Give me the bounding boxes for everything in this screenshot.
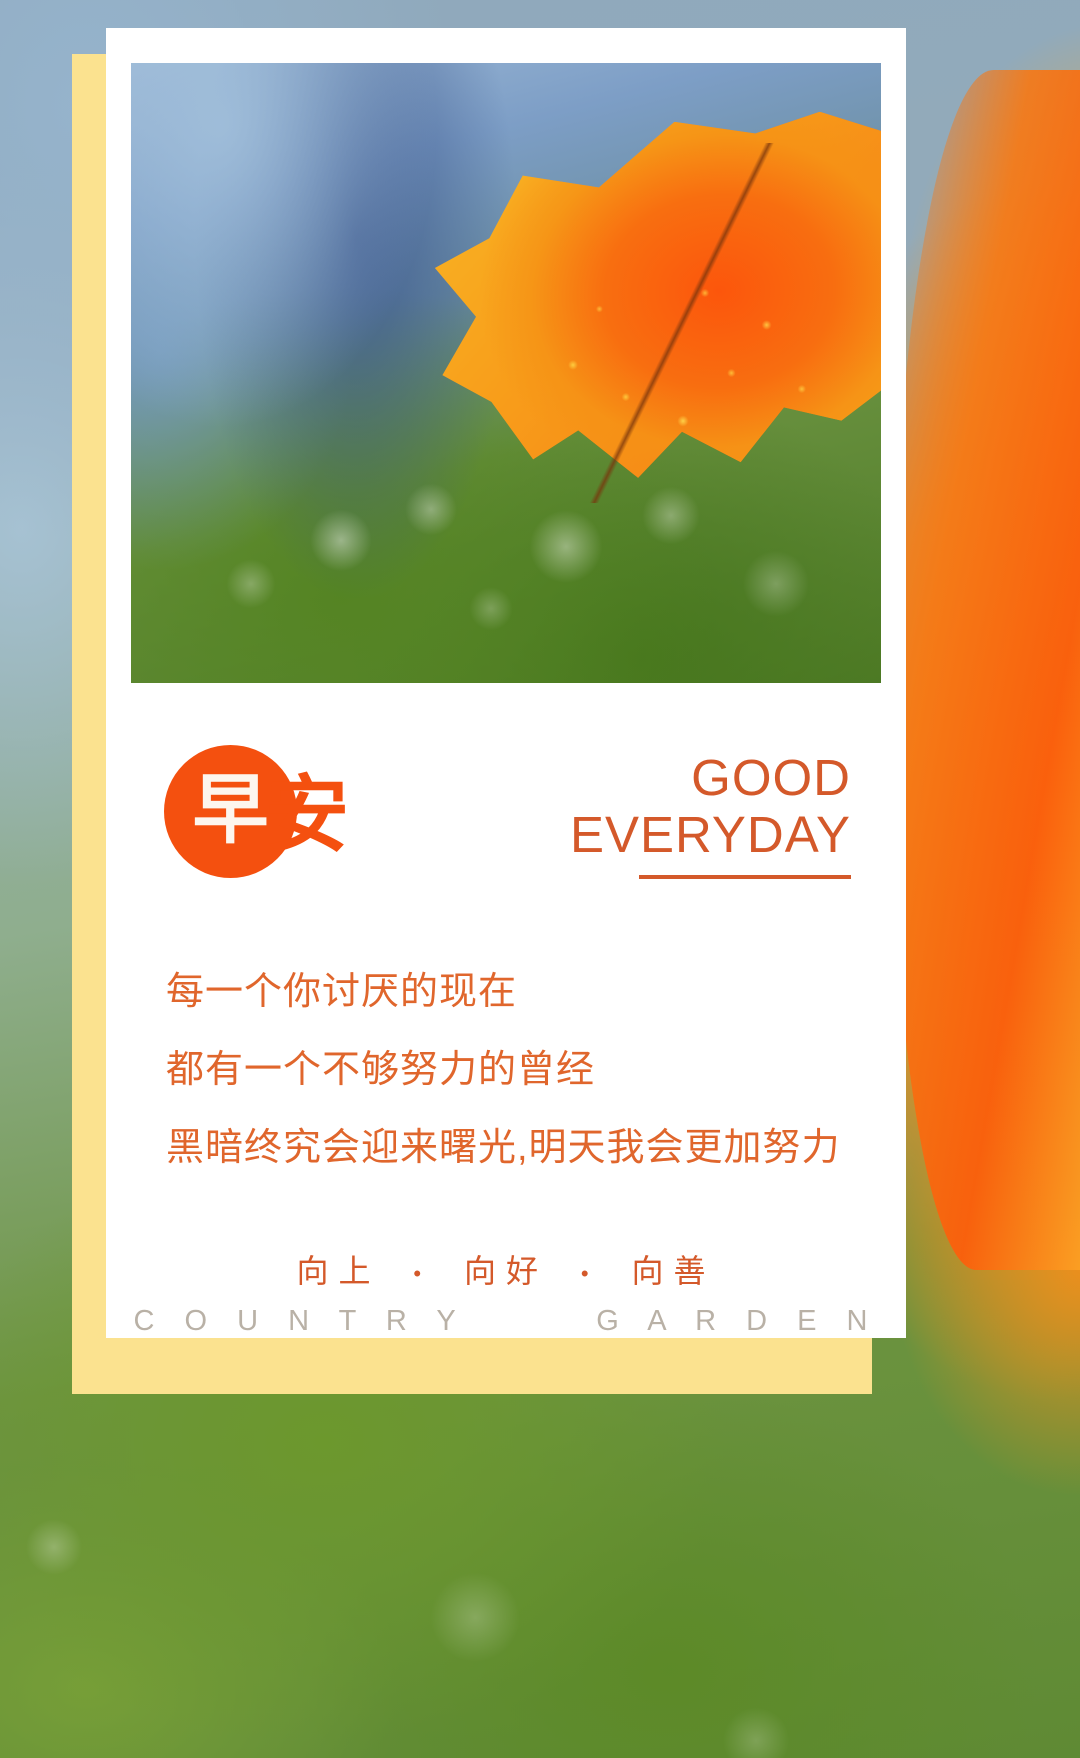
zaoan-logo: 早 安 xyxy=(164,745,349,878)
english-heading-line-2: EVERYDAY xyxy=(570,806,851,863)
quote-line-2: 都有一个不够努力的曾经 xyxy=(166,1051,881,1089)
english-heading: GOOD EVERYDAY xyxy=(570,749,851,879)
leaf-vein-icon xyxy=(491,143,881,503)
slogan-row: 向上 • 向好 • 向善 xyxy=(131,1255,881,1287)
header-row: 早 安 GOOD EVERYDAY xyxy=(131,745,881,895)
quote-line-1: 每一个你讨厌的现在 xyxy=(166,973,881,1011)
brand-row: C O U N T R Y G A R D E N xyxy=(131,1305,881,1338)
quote-block: 每一个你讨厌的现在 都有一个不够努力的曾经 黑暗终究会迎来曙光,明天我会更加努力 xyxy=(131,973,881,1167)
logo-char-zao: 早 xyxy=(193,773,269,849)
slogan-part-1: 向上 xyxy=(296,1253,380,1289)
quote-line-3: 黑暗终究会迎来曙光,明天我会更加努力 xyxy=(166,1129,881,1167)
slogan-part-2: 向好 xyxy=(464,1253,548,1289)
slogan-part-3: 向善 xyxy=(631,1253,715,1289)
slogan-separator-dot-2: • xyxy=(567,1261,613,1286)
footer-block: 向上 • 向好 • 向善 C O U N T R Y G A R D E N xyxy=(131,1255,881,1338)
poster-root: 早 安 GOOD EVERYDAY 每一个你讨厌的现在 都有一个不够努力的曾经 … xyxy=(0,0,1080,1758)
english-heading-underline xyxy=(639,875,851,879)
english-heading-line-1: GOOD xyxy=(570,749,851,806)
brand-word-country: C O U N T R Y xyxy=(134,1305,467,1337)
slogan-separator-dot-1: • xyxy=(399,1261,445,1286)
brand-word-garden: G A R D E N xyxy=(596,1305,878,1337)
white-card: 早 安 GOOD EVERYDAY 每一个你讨厌的现在 都有一个不够努力的曾经 … xyxy=(106,28,906,1338)
logo-char-an: 安 xyxy=(265,773,349,857)
hero-photo xyxy=(131,63,881,683)
